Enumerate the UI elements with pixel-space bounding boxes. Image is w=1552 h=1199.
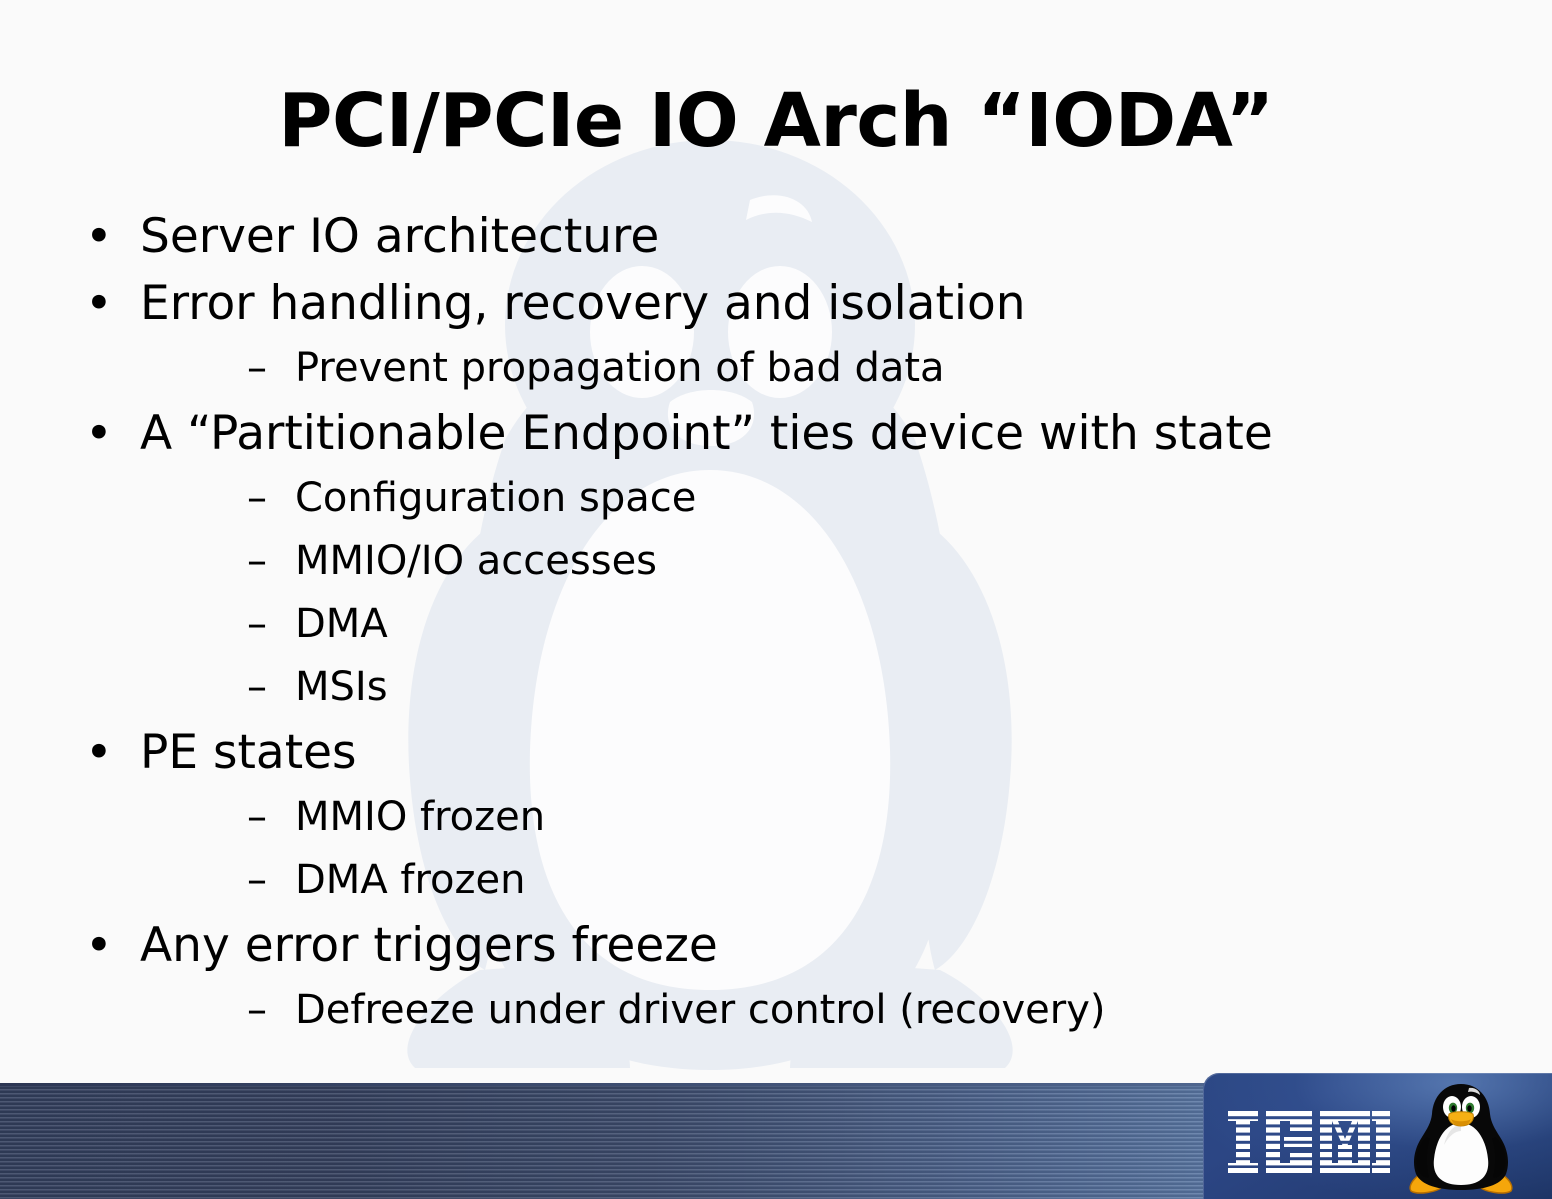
bullet-level1: • Any error triggers freeze	[0, 912, 1552, 979]
bullet-text: Server IO architecture	[140, 209, 659, 264]
bullet-dash-icon: –	[247, 979, 287, 1042]
bullet-text: DMA frozen	[295, 857, 525, 903]
bullet-level2: – DMA	[0, 593, 1552, 656]
bullet-dash-icon: –	[247, 656, 287, 719]
bullet-dot-icon: •	[85, 912, 125, 979]
bullet-level1: • Server IO architecture	[0, 203, 1552, 270]
bullet-level2: – Prevent propagation of bad data	[0, 337, 1552, 400]
bullet-dot-icon: •	[85, 400, 125, 467]
bullet-dash-icon: –	[247, 593, 287, 656]
bullet-text: MMIO frozen	[295, 794, 545, 840]
bullet-text: MSIs	[295, 664, 388, 710]
bullet-level2: – MMIO/IO accesses	[0, 530, 1552, 593]
bullet-text: Error handling, recovery and isolation	[140, 276, 1026, 331]
presentation-slide: PCI/PCIe IO Arch “IODA” • Server IO arch…	[0, 0, 1552, 1199]
ibm-logo-icon	[1228, 1111, 1390, 1173]
bullet-text: PE states	[140, 725, 357, 780]
bullet-level2: – Configuration space	[0, 467, 1552, 530]
slide-body-bullet-list: • Server IO architecture • Error handlin…	[0, 203, 1552, 1065]
bullet-level2: – DMA frozen	[0, 849, 1552, 912]
bullet-text: MMIO/IO accesses	[295, 538, 657, 584]
bullet-level1: • PE states	[0, 719, 1552, 786]
bullet-text: Prevent propagation of bad data	[295, 345, 945, 391]
bullet-level2: – Defreeze under driver control (recover…	[0, 979, 1552, 1042]
bullet-dash-icon: –	[247, 530, 287, 593]
footer-logo-panel	[1203, 1073, 1552, 1199]
tux-linux-penguin-icon	[1405, 1081, 1517, 1195]
bullet-dot-icon: •	[85, 719, 125, 786]
bullet-dash-icon: –	[247, 786, 287, 849]
bullet-text: A “Partitionable Endpoint” ties device w…	[140, 406, 1273, 461]
bullet-text: Configuration space	[295, 475, 696, 521]
slide-title: PCI/PCIe IO Arch “IODA”	[0, 84, 1552, 158]
bullet-dot-icon: •	[85, 270, 125, 337]
bullet-dash-icon: –	[247, 467, 287, 530]
bullet-text: Defreeze under driver control (recovery)	[295, 987, 1105, 1033]
bullet-level1: • Error handling, recovery and isolation	[0, 270, 1552, 337]
bullet-level2: – MSIs	[0, 656, 1552, 719]
bullet-level2: – MMIO frozen	[0, 786, 1552, 849]
bullet-text: Any error triggers freeze	[140, 918, 718, 973]
bullet-dash-icon: –	[247, 337, 287, 400]
bullet-dash-icon: –	[247, 849, 287, 912]
bullet-dot-icon: •	[85, 203, 125, 270]
bullet-text: DMA	[295, 601, 388, 647]
bullet-level1: • A “Partitionable Endpoint” ties device…	[0, 400, 1552, 467]
